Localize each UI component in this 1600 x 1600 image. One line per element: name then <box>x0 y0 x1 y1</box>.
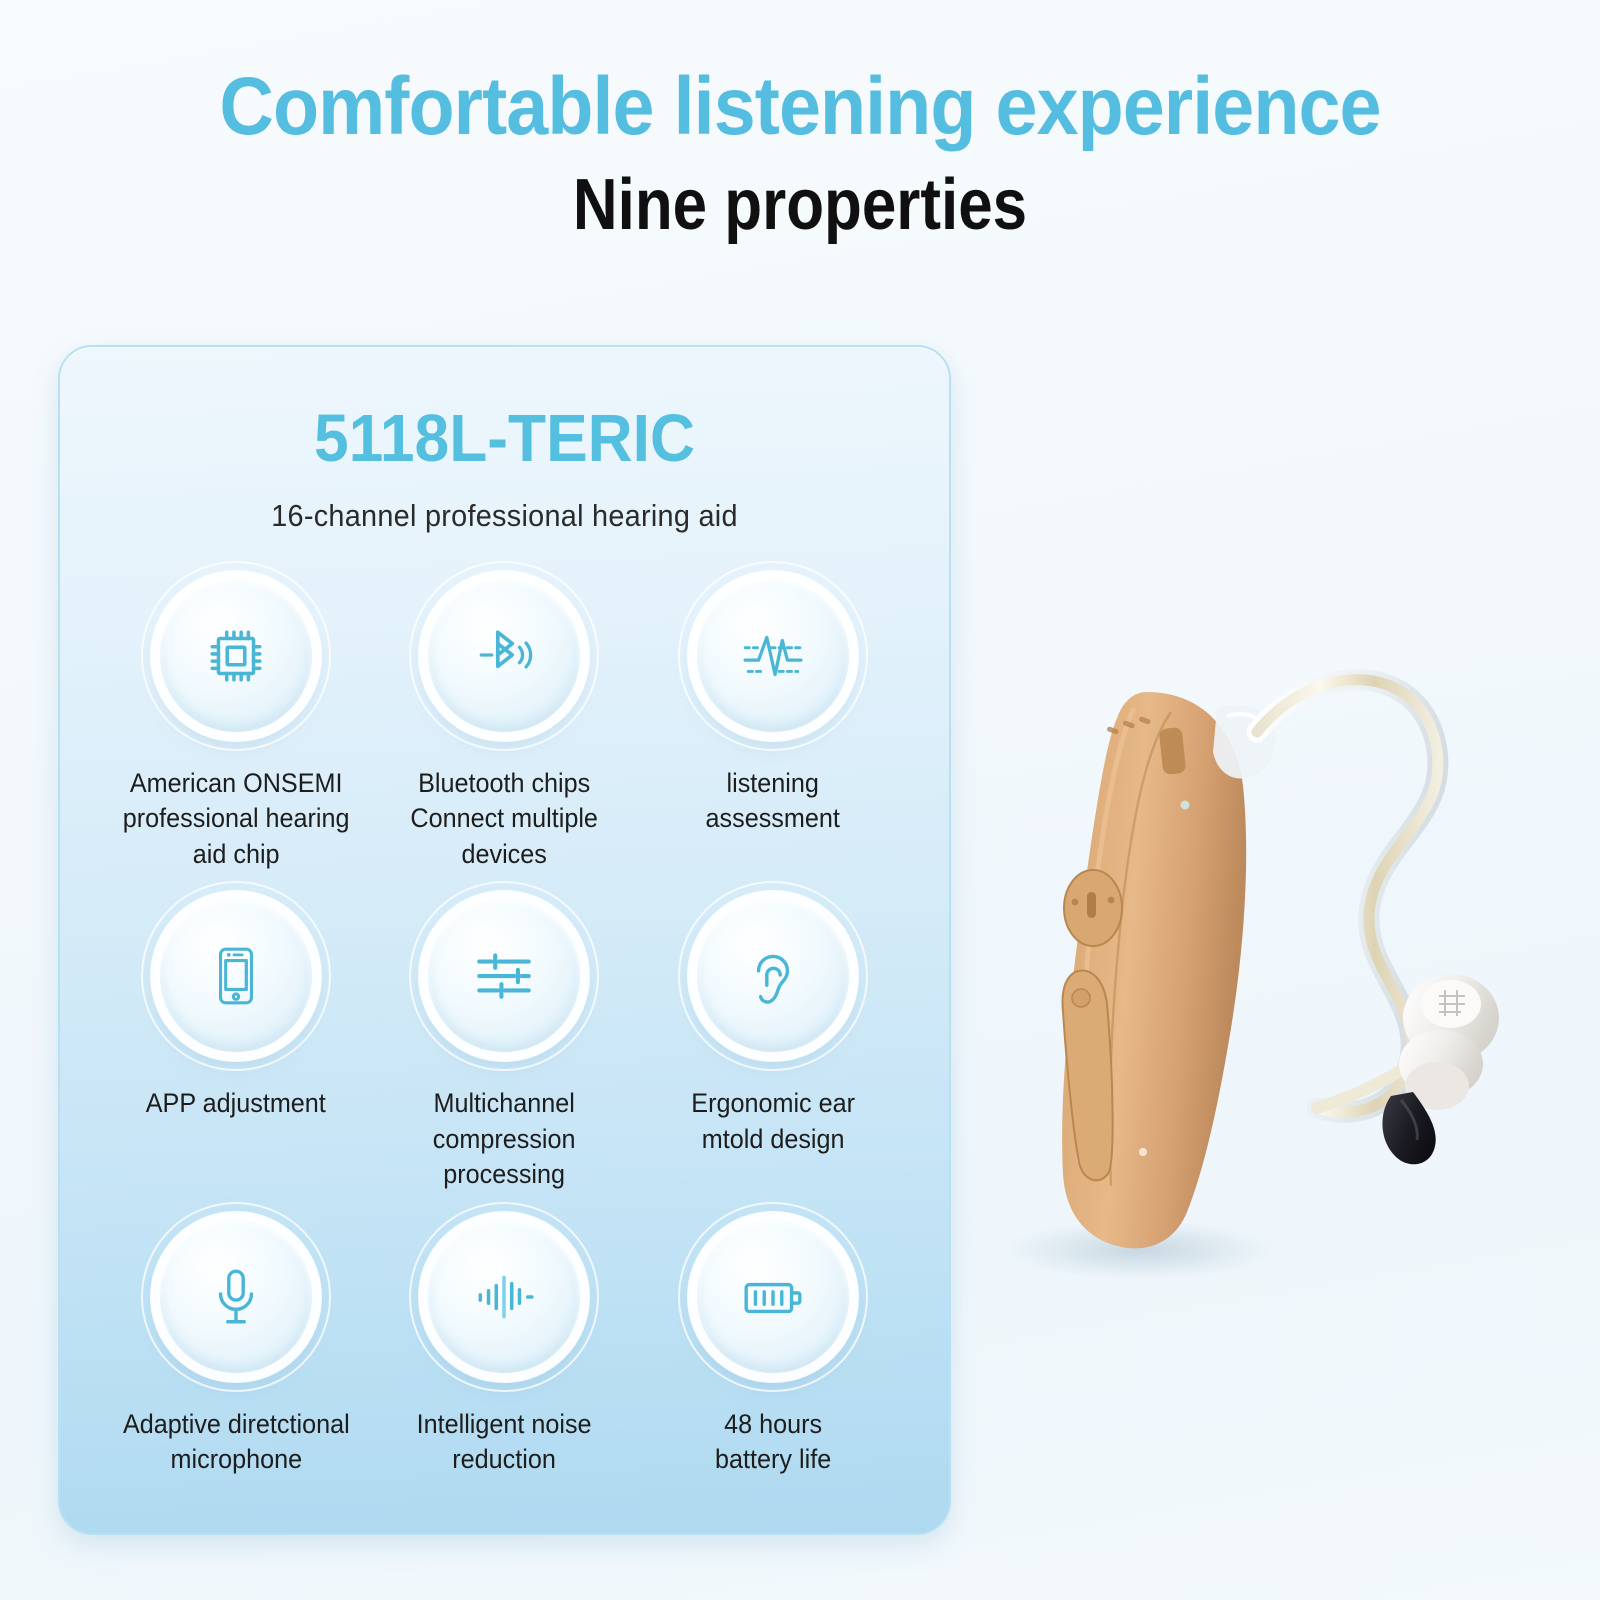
feature-label: APP adjustment <box>146 1086 326 1122</box>
feature-icon-badge <box>697 900 849 1052</box>
product-image <box>965 600 1565 1300</box>
features-card: 5118L-TERIC 16-channel professional hear… <box>58 345 951 1535</box>
feature-icon-badge <box>697 1221 849 1373</box>
equalizer-icon <box>471 943 537 1009</box>
feature-label: Bluetooth chips Connect multiple devices <box>377 766 632 873</box>
page-header: Comfortable listening experience Nine pr… <box>0 60 1600 249</box>
microphone-icon <box>203 1264 269 1330</box>
battery-icon <box>740 1264 806 1330</box>
page-subtitle: Nine properties <box>112 162 1488 248</box>
chip-icon <box>203 623 269 689</box>
ear-icon <box>740 943 806 1009</box>
feature-item-adaptive-directional-mic: Adaptive diretctional microphone <box>102 1221 370 1478</box>
behind-the-ear-hearing-aid-illustration <box>965 600 1565 1300</box>
page-title: Comfortable listening experience <box>64 60 1536 154</box>
smartphone-icon <box>203 943 269 1009</box>
lower-indicator-dot <box>1139 1148 1147 1156</box>
feature-icon-badge <box>160 1221 312 1373</box>
waveform-icon <box>740 623 806 689</box>
feature-label: listening assessment <box>706 766 840 837</box>
bluetooth-icon <box>471 623 537 689</box>
ear-dome-tip <box>1399 974 1499 1110</box>
indicator-led <box>1181 801 1190 810</box>
feature-icon-badge <box>428 900 580 1052</box>
feature-icon-badge <box>697 580 849 732</box>
feature-item-noise-reduction: Intelligent noise reduction <box>370 1221 638 1478</box>
feature-item-ergonomic-ear-mould: Ergonomic ear mtold design <box>639 900 907 1193</box>
feature-label: American ONSEMI professional hearing aid… <box>109 766 364 873</box>
feature-label: Multichannel compression processing <box>377 1086 632 1193</box>
feature-icon-badge <box>428 1221 580 1373</box>
feature-item-bluetooth: Bluetooth chips Connect multiple devices <box>370 580 638 873</box>
sound-bars-icon <box>471 1264 537 1330</box>
feature-icon-badge <box>160 900 312 1052</box>
feature-icon-badge <box>428 580 580 732</box>
button-dot-left <box>1072 899 1079 906</box>
feature-label: Adaptive diretctional microphone <box>123 1407 350 1478</box>
product-model-name: 5118L-TERIC <box>91 402 918 476</box>
feature-grid: American ONSEMI professional hearing aid… <box>60 580 949 1478</box>
button-dot-right <box>1108 897 1115 904</box>
feature-item-battery-life: 48 hours battery life <box>639 1221 907 1478</box>
feature-label: 48 hours battery life <box>715 1407 831 1478</box>
product-description: 16-channel professional hearing aid <box>91 498 918 534</box>
feature-icon-badge <box>160 580 312 732</box>
battery-door-latch <box>1072 989 1090 1007</box>
feature-item-multichannel-compression: Multichannel compression processing <box>370 900 638 1193</box>
feature-item-listening-assessment: listening assessment <box>639 580 907 873</box>
feature-item-chip: American ONSEMI professional hearing aid… <box>102 580 370 873</box>
feature-label: Intelligent noise reduction <box>417 1407 592 1478</box>
program-button-slot <box>1087 892 1096 918</box>
microphone-port <box>1159 727 1187 775</box>
feature-item-app-adjustment: APP adjustment <box>102 900 370 1193</box>
feature-label: Ergonomic ear mtold design <box>691 1086 855 1157</box>
